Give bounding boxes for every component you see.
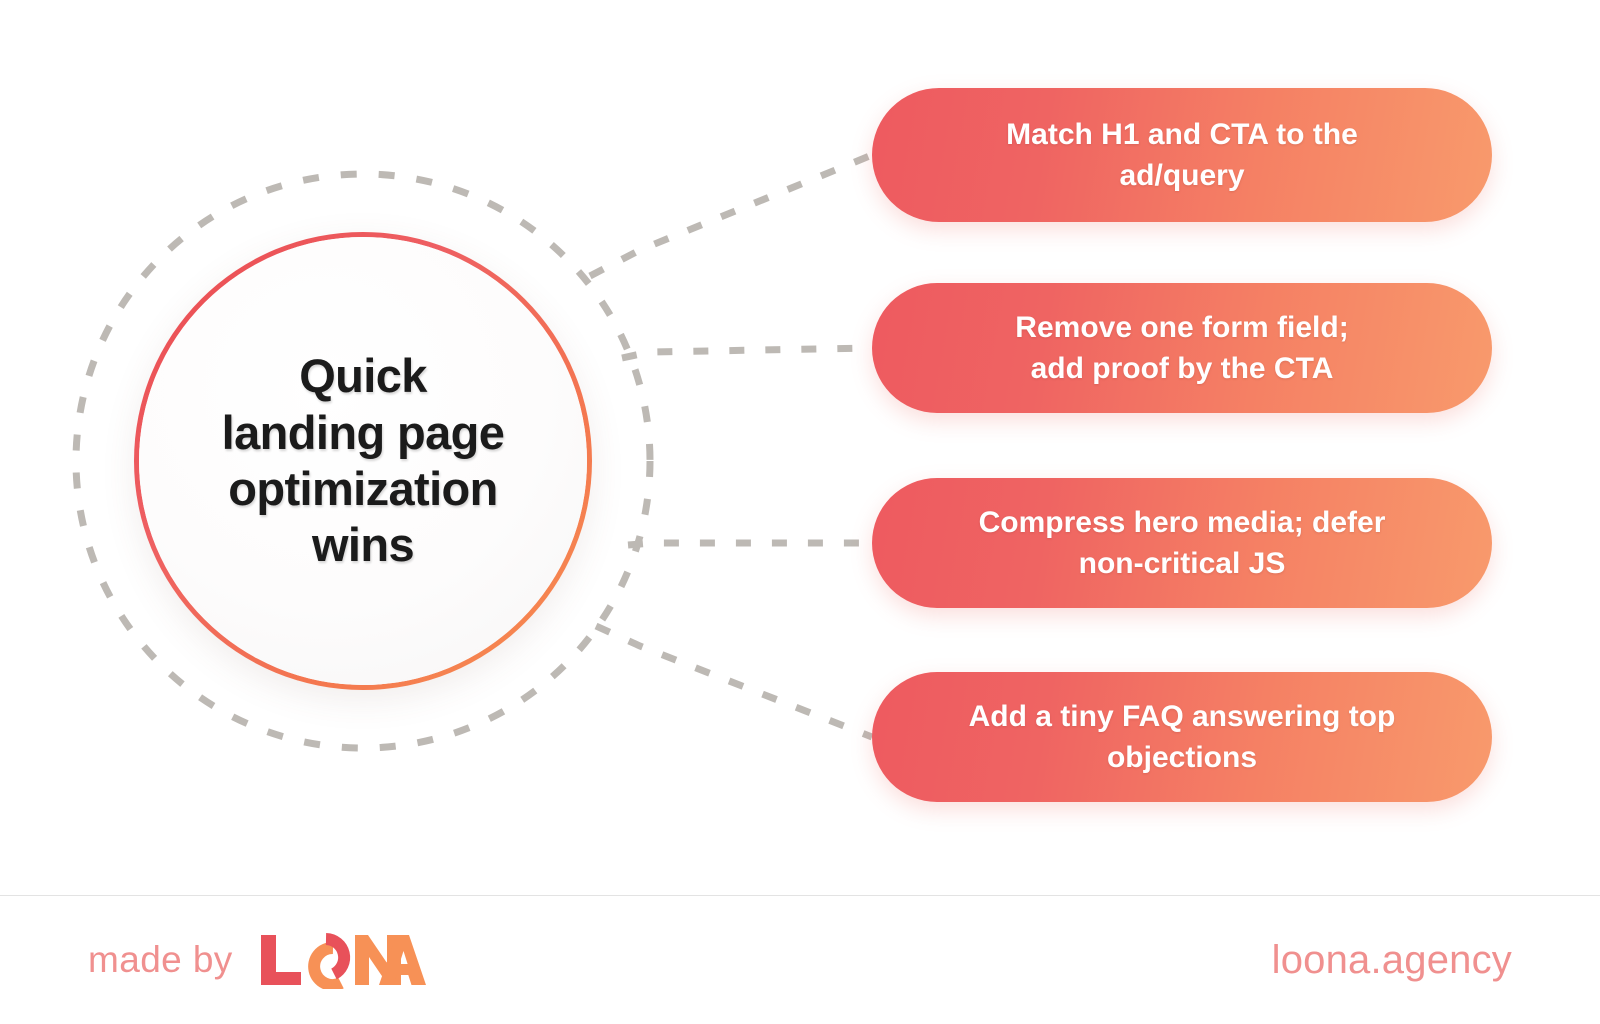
branch-pill-label: Add a tiny FAQ answering top objections — [969, 696, 1396, 778]
footer: made by loona.agency — [0, 896, 1600, 1024]
branch-pill-3[interactable]: Compress hero media; defer non-critical … — [872, 478, 1492, 608]
branch-pill-1[interactable]: Match H1 and CTA to the ad/query — [872, 88, 1492, 222]
branch-pill-label: Match H1 and CTA to the ad/query — [1006, 114, 1358, 196]
site-url[interactable]: loona.agency — [1272, 938, 1512, 983]
center-inner: Quick landing page optimization wins — [139, 237, 587, 685]
page-title: Quick landing page optimization wins — [196, 348, 531, 574]
connector-line-3 — [628, 543, 872, 545]
branch-pill-label: Compress hero media; defer non-critical … — [979, 502, 1386, 584]
connector-line-4 — [596, 626, 872, 737]
made-by-label: made by — [88, 939, 233, 981]
branch-pill-4[interactable]: Add a tiny FAQ answering top objections — [872, 672, 1492, 802]
made-by-block: made by — [88, 931, 427, 989]
infographic-canvas: Quick landing page optimization wins Mat… — [0, 0, 1600, 1024]
branch-pill-2[interactable]: Remove one form field; add proof by the … — [872, 283, 1492, 413]
connector-line-1 — [590, 155, 872, 276]
center-node: Quick landing page optimization wins — [134, 232, 592, 690]
branch-pill-label: Remove one form field; add proof by the … — [1015, 307, 1348, 389]
loona-logo-icon[interactable] — [255, 931, 427, 989]
connector-line-2 — [622, 348, 872, 358]
